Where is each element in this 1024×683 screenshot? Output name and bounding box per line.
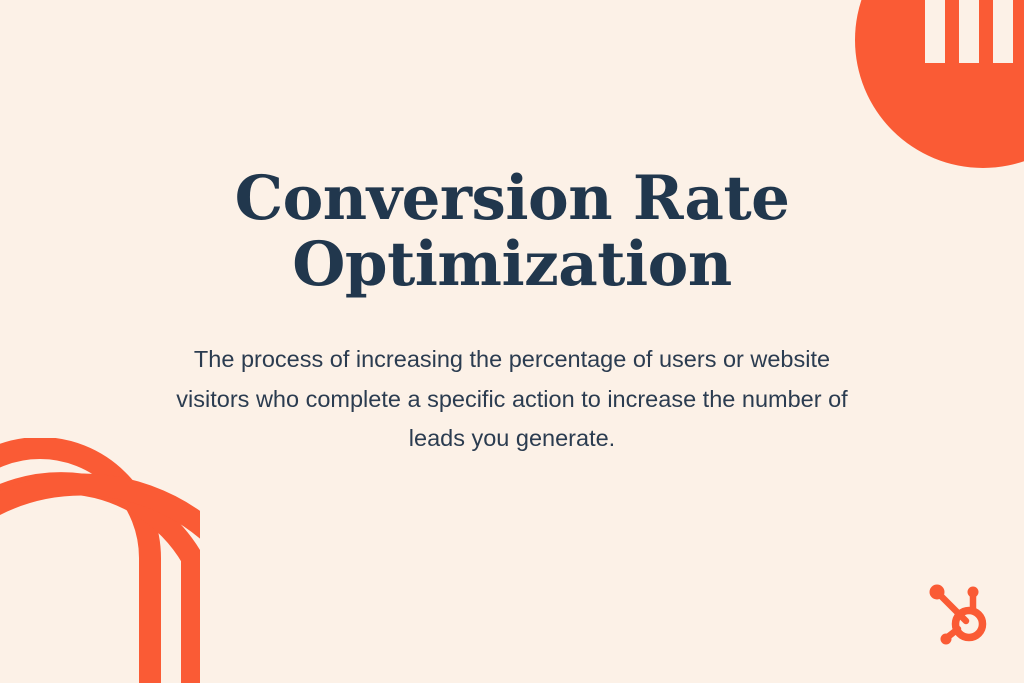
page-description: The process of increasing the percentage… — [162, 340, 862, 458]
text-content-block: Conversion Rate Optimization The process… — [0, 0, 1024, 683]
slide-canvas: Conversion Rate Optimization The process… — [0, 0, 1024, 683]
page-title: Conversion Rate Optimization — [132, 166, 892, 298]
hubspot-sprocket-icon — [928, 583, 990, 645]
hubspot-sprocket-logo — [928, 583, 990, 645]
